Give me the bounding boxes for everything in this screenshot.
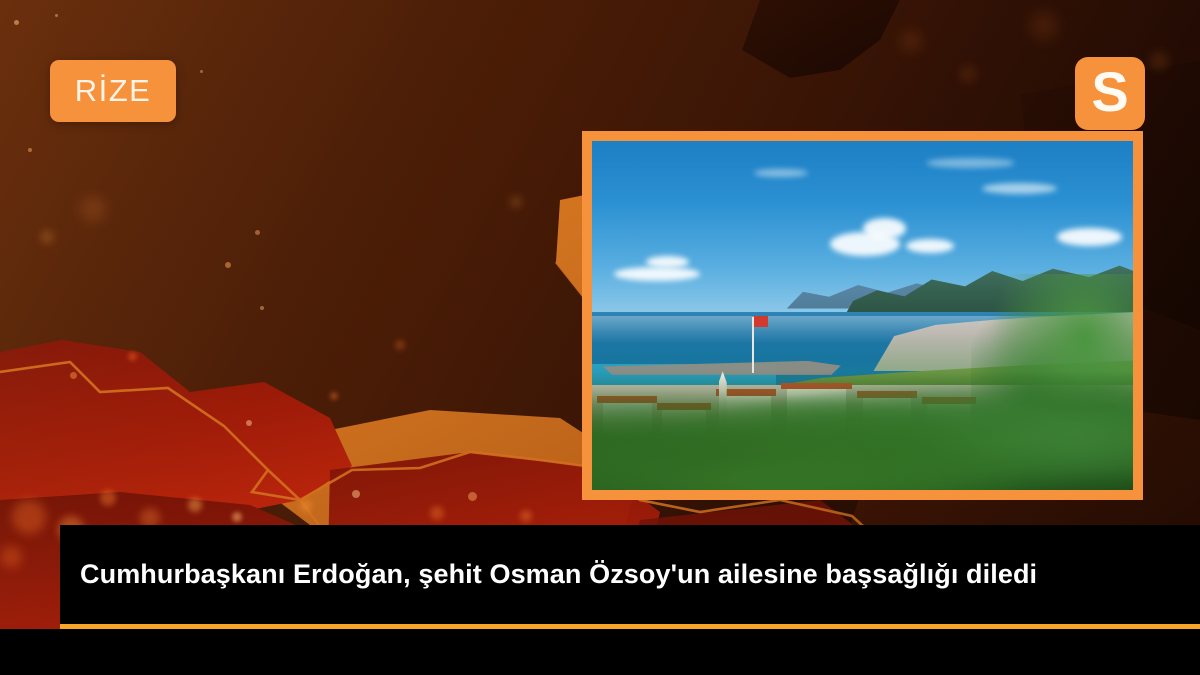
headline-text: Cumhurbaşkanı Erdoğan, şehit Osman Özsoy… — [60, 557, 1055, 591]
caption-footer-bar — [0, 629, 1200, 675]
caption-bar: Cumhurbaşkanı Erdoğan, şehit Osman Özsoy… — [60, 525, 1200, 624]
caption-underline — [60, 624, 1200, 629]
news-photo — [592, 141, 1133, 490]
news-card-stage: RİZE S — [0, 0, 1200, 675]
province-badge-label: RİZE — [75, 73, 152, 109]
province-badge[interactable]: RİZE — [50, 60, 176, 122]
site-logo-letter: S — [1091, 64, 1128, 120]
news-photo-frame — [582, 131, 1143, 500]
photo-flag — [754, 316, 768, 328]
photo-foreground-trees — [592, 371, 1133, 490]
site-logo-s-icon[interactable]: S — [1075, 57, 1145, 130]
